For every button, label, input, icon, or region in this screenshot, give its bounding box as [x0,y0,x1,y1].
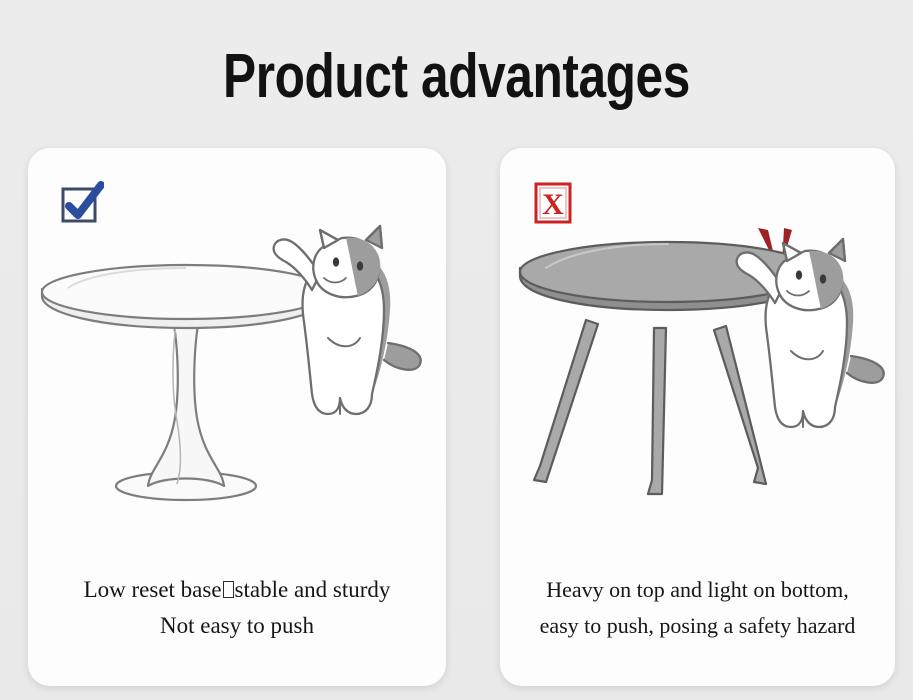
infographic-page: Product advantages [0,0,913,700]
svg-text:X: X [542,188,564,221]
page-title: Product advantages [91,42,821,112]
caption-line-1: Heavy on top and light on bottom, [500,572,895,608]
card-bad-caption: Heavy on top and light on bottom, easy t… [500,572,895,644]
caption-line-1: Low reset basestable and sturdy [28,572,446,608]
card-good-caption: Low reset basestable and sturdy Not easy… [28,572,446,644]
caption-line-2: Not easy to push [28,608,446,644]
advantage-card-good: Low reset basestable and sturdy Not easy… [28,148,446,686]
advantage-card-bad: X [500,148,895,686]
cat-figure [737,239,884,427]
caption-line-2: easy to push, posing a safety hazard [500,608,895,644]
cat-figure [274,226,421,414]
missing-glyph-box [223,581,234,598]
